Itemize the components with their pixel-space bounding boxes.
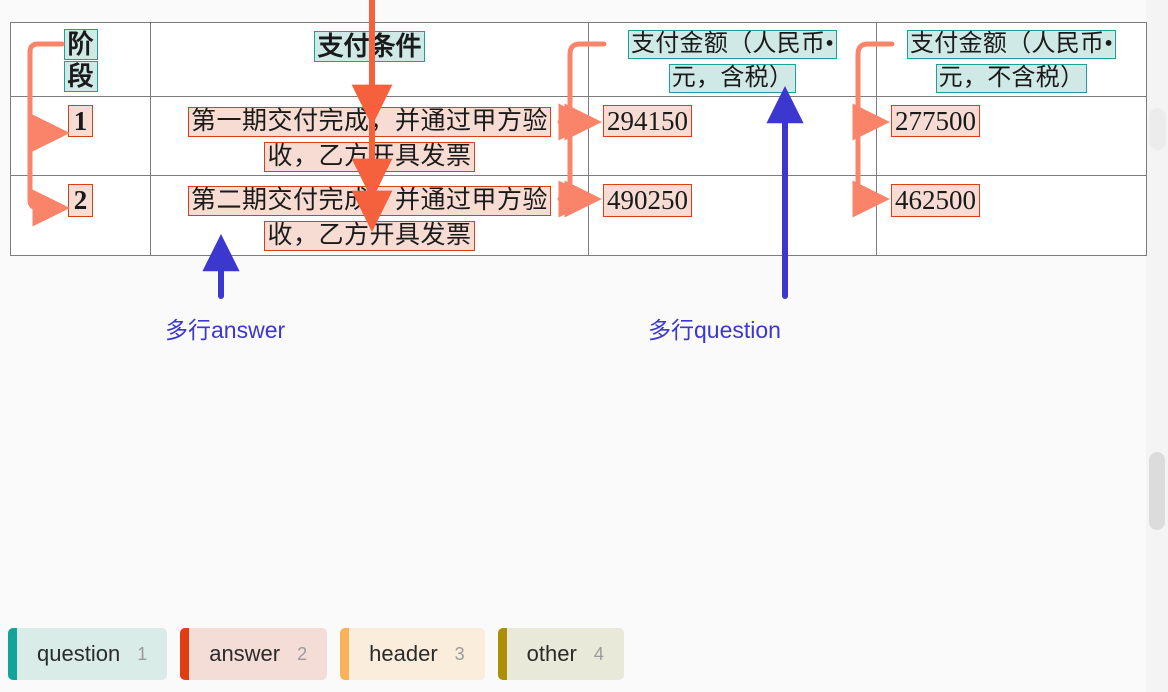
answer-token-condition-2-line1: 第二期交付完成，并通过甲方验 (188, 186, 551, 216)
scrollbar-track[interactable] (1146, 0, 1168, 692)
legend-index-question: 1 (137, 644, 147, 665)
legend-color-swatch-answer (180, 628, 189, 680)
legend-item-answer[interactable]: answer 2 (180, 628, 327, 680)
cell-amount-excl-2: 462500 (877, 176, 1147, 256)
cell-amount-incl-1: 294150 (589, 97, 877, 176)
legend-label-question: question (37, 641, 120, 667)
legend-item-header[interactable]: header 3 (340, 628, 485, 680)
legend-index-other: 4 (594, 644, 604, 665)
legend-index-answer: 2 (297, 644, 307, 665)
header-token-amount-incl-line2: 元，含税） (669, 64, 797, 93)
answer-token-stage-2: 2 (68, 184, 94, 216)
legend-color-swatch-header (340, 628, 349, 680)
legend-color-swatch-other (498, 628, 507, 680)
legend-label-answer: answer (209, 641, 280, 667)
header-token-amount-incl-line1: 支付金额（人民币• (628, 30, 837, 59)
table-row: 1 第一期交付完成，并通过甲方验 收，乙方开具发票 294150 (11, 97, 1147, 176)
legend-label-header: header (369, 641, 438, 667)
table-row: 2 第二期交付完成，并通过甲方验 收，乙方开具发票 490250 (11, 176, 1147, 256)
callout-label-answer: 多行answer (165, 311, 285, 345)
header-cell-stage: 阶 段 (11, 23, 151, 97)
header-token-condition: 支付条件 (314, 31, 424, 62)
cell-amount-excl-1: 277500 (877, 97, 1147, 176)
header-token-stage-line1: 阶 (64, 29, 98, 60)
scrollbar-thumb[interactable] (1149, 452, 1165, 530)
legend-color-swatch-question (8, 628, 17, 680)
answer-token-condition-1-line1: 第一期交付完成，并通过甲方验 (188, 107, 551, 137)
legend-label-other: other (527, 641, 577, 667)
cell-condition-2: 第二期交付完成，并通过甲方验 收，乙方开具发票 (151, 176, 589, 256)
header-token-stage-line2: 段 (64, 61, 98, 92)
legend-item-question[interactable]: question 1 (8, 628, 167, 680)
header-cell-amount-incl: 支付金额（人民币• 元，含税） (589, 23, 877, 97)
document-table-wrapper: 阶 段 支付条件 支付金额（人民币• 元，含税） (10, 22, 1146, 256)
document-table: 阶 段 支付条件 支付金额（人民币• 元，含税） (10, 22, 1147, 256)
answer-token-stage-1: 1 (68, 105, 94, 137)
answer-token-amount-incl-2: 490250 (603, 184, 692, 216)
answer-token-amount-incl-1: 294150 (603, 105, 692, 137)
cell-stage-2: 2 (11, 176, 151, 256)
scrollbar-thumb-secondary[interactable] (1149, 108, 1166, 150)
cell-amount-incl-2: 490250 (589, 176, 877, 256)
annotation-canvas: 阶 段 支付条件 支付金额（人民币• 元，含税） (0, 0, 1168, 692)
cell-stage-1: 1 (11, 97, 151, 176)
legend-item-other[interactable]: other 4 (498, 628, 624, 680)
answer-token-amount-excl-2: 462500 (891, 184, 980, 216)
answer-token-condition-2-line2: 收，乙方开具发票 (264, 221, 474, 251)
header-cell-amount-excl: 支付金额（人民币• 元，不含税） (877, 23, 1147, 97)
header-token-amount-excl-line2: 元，不含税） (936, 64, 1088, 93)
answer-token-amount-excl-1: 277500 (891, 105, 980, 137)
legend: question 1 answer 2 header 3 other 4 (8, 628, 624, 680)
header-cell-condition: 支付条件 (151, 23, 589, 97)
header-token-amount-excl-line1: 支付金额（人民币• (907, 30, 1116, 59)
answer-token-condition-1-line2: 收，乙方开具发票 (264, 142, 474, 172)
legend-index-header: 3 (455, 644, 465, 665)
table-header-row: 阶 段 支付条件 支付金额（人民币• 元，含税） (11, 23, 1147, 97)
cell-condition-1: 第一期交付完成，并通过甲方验 收，乙方开具发票 (151, 97, 589, 176)
callout-label-question: 多行question (648, 311, 781, 345)
